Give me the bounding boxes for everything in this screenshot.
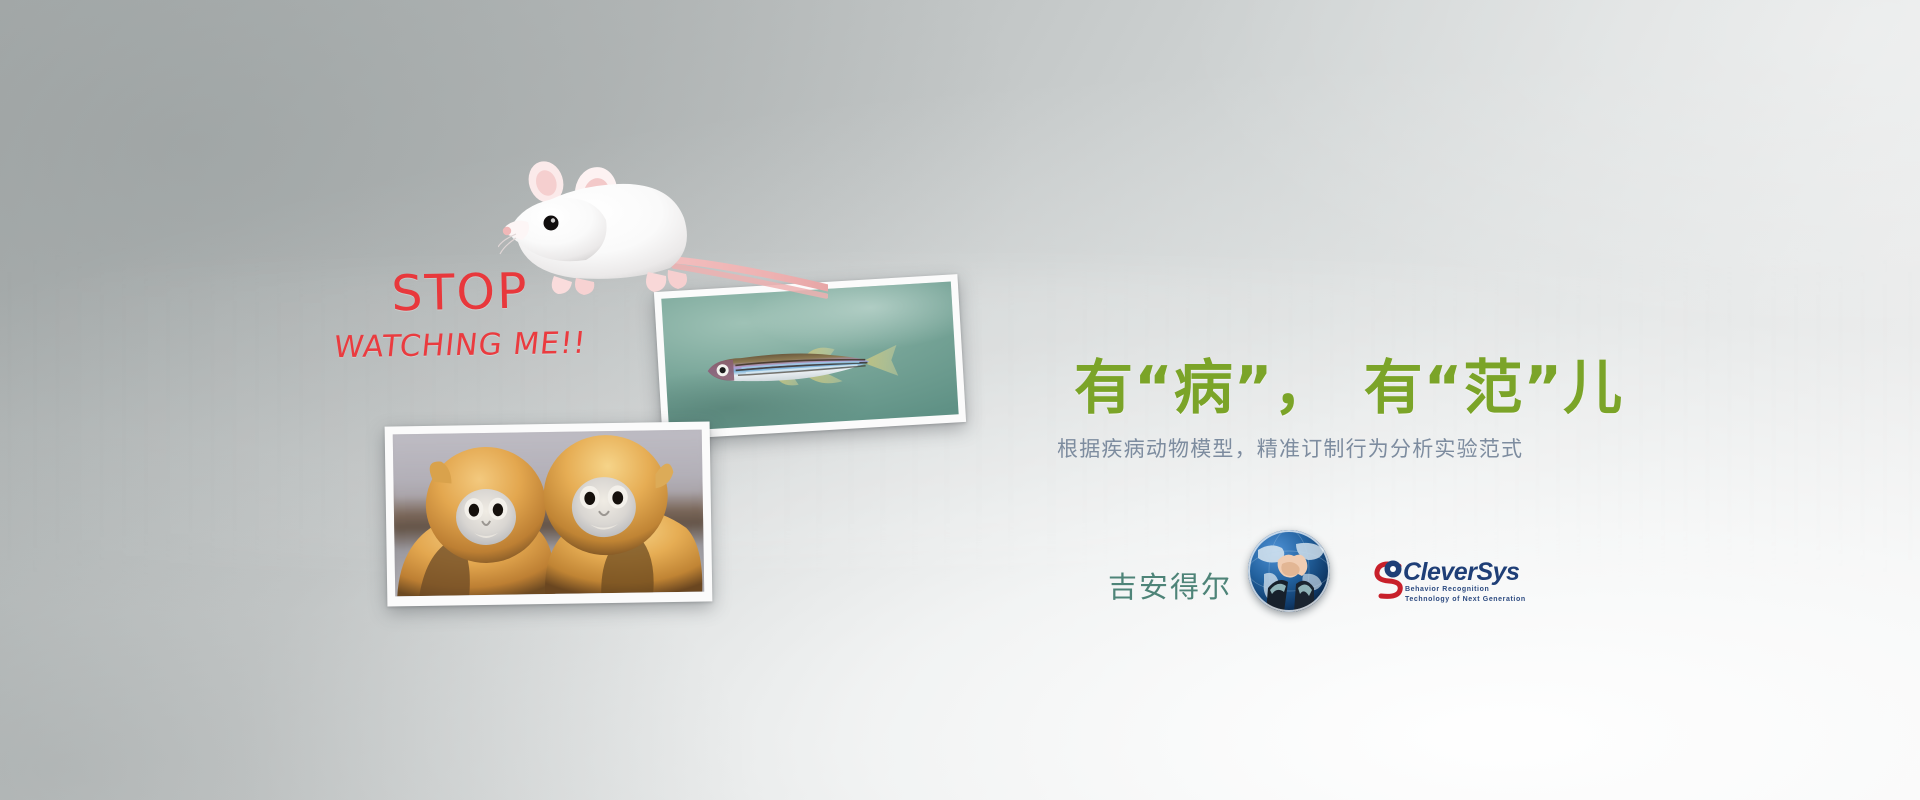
handwriting-block: STOP WATCHING ME!! (300, 268, 620, 361)
subheadline: 根据疾病动物模型，精准订制行为分析实验范式 (1057, 433, 1523, 463)
stop-text: STOP (300, 265, 621, 321)
brand-name-cn: 吉安得尔 (1108, 564, 1232, 606)
cleversys-tagline-1: Behavior Recognition (1405, 586, 1489, 593)
cleversys-logo: CleverSys Behavior Recognition Technolog… (1373, 558, 1523, 614)
promo-banner: STOP WATCHING ME!! 有“病”，有“范”儿 根据疾病动物模型，精… (0, 0, 1920, 800)
globe-ring (1248, 530, 1330, 612)
headline: 有“病”，有“范”儿 (1074, 340, 1623, 425)
cleversys-wordmark: CleverSys (1403, 558, 1519, 587)
headline-part-2: 有“范”儿 (1364, 353, 1624, 422)
globe-handshake-icon (1248, 530, 1330, 612)
headline-part-1: 有“病”， (1074, 353, 1334, 422)
zebrafish-photo-image (661, 282, 958, 432)
watching-me-text: WATCHING ME!! (298, 328, 621, 364)
monkeys-photo (385, 421, 713, 606)
cleversys-tagline-2: Technology of Next Generation (1405, 596, 1526, 603)
monkeys-photo-image (393, 430, 705, 597)
monkeys-illustration (393, 430, 705, 597)
